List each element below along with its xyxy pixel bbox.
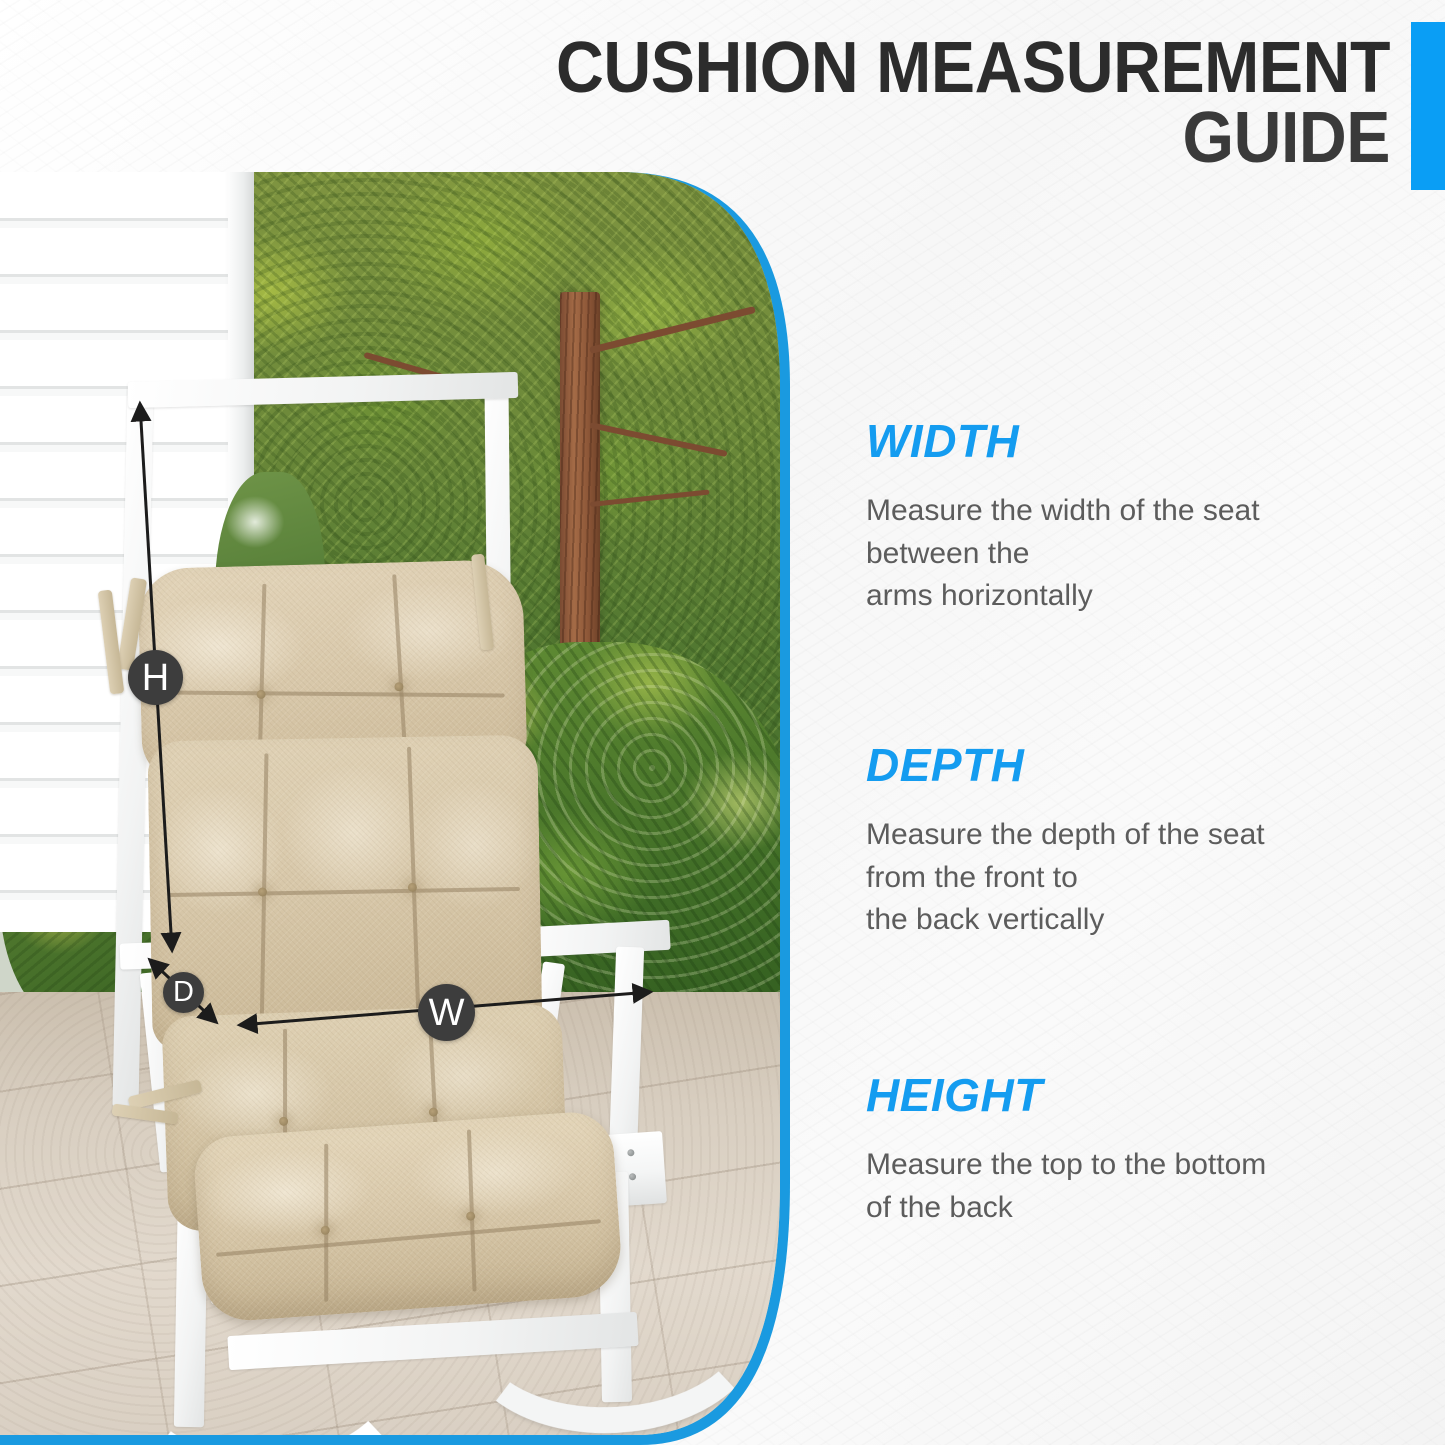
page-title-line-2: GUIDE [415,104,1390,174]
infographic-canvas: CUSHION MEASUREMENT GUIDE [0,0,1445,1445]
info-block-width: WIDTH Measure the width of the seat betw… [866,418,1406,618]
info-heading-width: WIDTH [866,418,1406,464]
product-photo: H D W [0,172,800,1445]
photo-scene: H D W [0,172,800,1445]
info-heading-height: HEIGHT [866,1072,1406,1118]
page-title-line-1: CUSHION MEASUREMENT [415,34,1390,104]
chair-top-rail [128,372,519,408]
info-block-height: HEIGHT Measure the top to the bottom of … [866,1072,1406,1229]
header-accent-bar [1411,22,1445,190]
info-body-width: Measure the width of the seat between th… [866,490,1406,618]
cushion-seat-section [192,1110,624,1324]
info-block-depth: DEPTH Measure the depth of the seat from… [866,742,1406,942]
info-heading-depth: DEPTH [866,742,1406,788]
product-photo-panel: H D W [0,172,800,1445]
cushion-back-section [147,735,542,1052]
info-body-height: Measure the top to the bottom of the bac… [866,1144,1406,1229]
page-title: CUSHION MEASUREMENT GUIDE [330,34,1390,174]
info-body-depth: Measure the depth of the seat from the f… [866,814,1406,942]
